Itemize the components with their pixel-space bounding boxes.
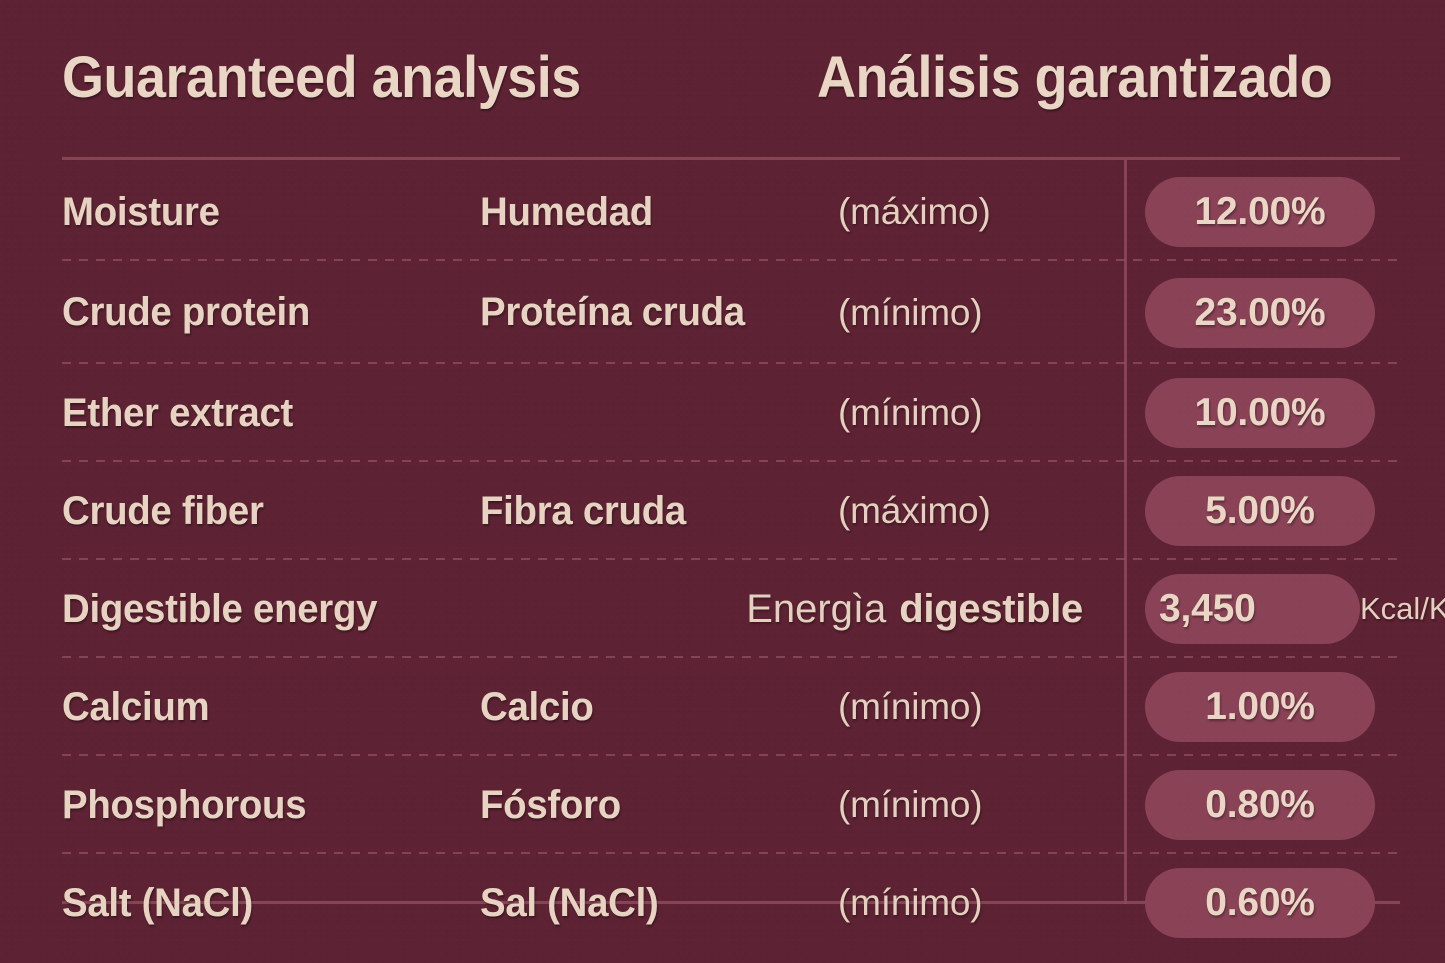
qualifier-text: (máximo) — [838, 191, 991, 233]
nutrient-label-spanish: Fósforo — [480, 756, 830, 854]
label-text: Fósforo — [480, 783, 621, 828]
value-number: 5.00% — [1205, 489, 1315, 533]
nutrient-qualifier: (mínimo) — [838, 756, 1123, 854]
nutrient-label-spanish: Proteína cruda — [480, 261, 830, 364]
value-number: 3,450 — [1159, 587, 1256, 631]
table-row: Calcium Calcio (mínimo) 1.00% — [0, 658, 1445, 756]
value-pill: 23.00% — [1145, 278, 1375, 348]
nutrient-label-english: Salt (NaCl) — [62, 854, 477, 952]
value-pill: 12.00% — [1145, 177, 1375, 247]
nutrient-label-spanish: Sal (NaCl) — [480, 854, 830, 952]
value-number: 23.00% — [1194, 291, 1325, 335]
nutrient-qualifier: (mínimo) — [838, 364, 1123, 462]
label-text: Humedad — [480, 190, 653, 235]
qualifier-text: (mínimo) — [838, 784, 982, 826]
nutrition-table: Moisture Humedad (máximo) 12.00% Crude p… — [0, 163, 1445, 952]
label-text: Ether extract — [62, 391, 293, 436]
nutrient-label-spanish: Humedad — [480, 163, 830, 261]
nutrient-label-english: Ether extract — [62, 364, 477, 462]
qualifier-text: (máximo) — [838, 490, 991, 532]
label-text: Digestible energy — [62, 587, 377, 632]
nutrient-label-spanish: Fibra cruda — [480, 462, 830, 560]
value-unit: Kcal/Kg — [1360, 591, 1445, 627]
nutrient-qualifier: (mínimo) — [838, 658, 1123, 756]
qualifier-text: (mínimo) — [838, 392, 982, 434]
nutrient-value: 23.00% — [1145, 261, 1445, 364]
nutrient-value: 3,450 Kcal/Kg — [1145, 560, 1445, 658]
value-pill: 5.00% — [1145, 476, 1375, 546]
qualifier-text: (mínimo) — [838, 292, 982, 334]
value-number: 1.00% — [1205, 685, 1315, 729]
label-text-light: Energìa — [746, 587, 886, 632]
label-text: Crude fiber — [62, 489, 264, 534]
nutrient-value: 10.00% — [1145, 364, 1445, 462]
header-divider-line — [62, 157, 1400, 160]
value-number: 12.00% — [1194, 190, 1325, 234]
nutrient-label-english: Crude protein — [62, 261, 477, 364]
label-text: Crude protein — [62, 290, 310, 335]
nutrient-label-spanish — [480, 364, 830, 462]
value-pill: 0.60% — [1145, 868, 1375, 938]
table-row: Moisture Humedad (máximo) 12.00% — [0, 163, 1445, 261]
value-number: 0.60% — [1205, 881, 1315, 925]
guaranteed-analysis-panel: Guaranteed analysis Análisis garantizado… — [0, 0, 1445, 963]
label-text: Calcio — [480, 685, 594, 730]
nutrient-value: 1.00% — [1145, 658, 1445, 756]
nutrient-value: 12.00% — [1145, 163, 1445, 261]
nutrient-value: 5.00% — [1145, 462, 1445, 560]
panel-header: Guaranteed analysis Análisis garantizado — [62, 43, 1400, 143]
label-text: Calcium — [62, 685, 209, 730]
table-row: Phosphorous Fósforo (mínimo) 0.80% — [0, 756, 1445, 854]
label-text: Salt (NaCl) — [62, 881, 253, 926]
nutrient-qualifier: (mínimo) — [838, 854, 1123, 952]
page-title-english: Guaranteed analysis — [62, 43, 581, 113]
page-title-spanish: Análisis garantizado — [817, 43, 1332, 113]
table-row: Crude fiber Fibra cruda (máximo) 5.00% — [0, 462, 1445, 560]
nutrient-value: 0.80% — [1145, 756, 1445, 854]
label-text: Proteína cruda — [480, 290, 745, 335]
nutrient-label-english: Calcium — [62, 658, 477, 756]
nutrient-qualifier: (mínimo) — [838, 261, 1123, 364]
table-row: Salt (NaCl) Sal (NaCl) (mínimo) 0.60% — [0, 854, 1445, 952]
label-text: Moisture — [62, 190, 220, 235]
label-text: Phosphorous — [62, 783, 306, 828]
table-row: Digestible energy Energìa digestible 3,4… — [0, 560, 1445, 658]
qualifier-text: (mínimo) — [838, 686, 982, 728]
nutrient-label-english: Phosphorous — [62, 756, 477, 854]
nutrient-value: 0.60% — [1145, 854, 1445, 952]
label-text: Sal (NaCl) — [480, 881, 659, 926]
nutrient-label-english: Digestible energy — [62, 560, 477, 658]
qualifier-text: (mínimo) — [838, 882, 982, 924]
table-row: Crude protein Proteína cruda (mínimo) 23… — [0, 261, 1445, 364]
nutrient-qualifier: (máximo) — [838, 462, 1123, 560]
value-number: 10.00% — [1194, 391, 1325, 435]
label-text-bold: digestible — [899, 587, 1083, 632]
value-pill: 0.80% — [1145, 770, 1375, 840]
nutrient-label-spanish: Energìa digestible — [480, 560, 1123, 658]
value-number: 0.80% — [1205, 783, 1315, 827]
nutrient-label-english: Crude fiber — [62, 462, 477, 560]
nutrient-label-spanish: Calcio — [480, 658, 830, 756]
value-pill: 10.00% — [1145, 378, 1375, 448]
value-pill: 3,450 Kcal/Kg — [1145, 574, 1360, 644]
value-pill: 1.00% — [1145, 672, 1375, 742]
table-row: Ether extract (mínimo) 10.00% — [0, 364, 1445, 462]
nutrient-label-english: Moisture — [62, 163, 477, 261]
label-text: Fibra cruda — [480, 489, 686, 534]
nutrient-qualifier: (máximo) — [838, 163, 1123, 261]
